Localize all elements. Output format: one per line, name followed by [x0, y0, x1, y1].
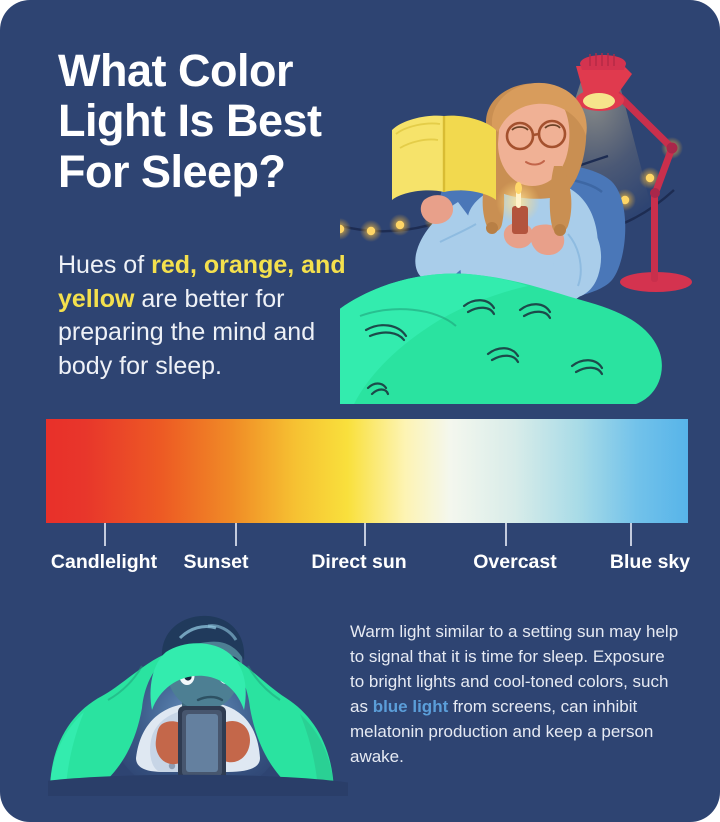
- gradient-fill: [46, 419, 688, 523]
- page-title: What Color Light Is Best For Sleep?: [58, 46, 388, 197]
- scale-label-candlelight: Candlelight: [51, 551, 157, 574]
- woman-reading-in-bed-illustration: [340, 30, 710, 405]
- blanket: [340, 274, 662, 404]
- subtitle-part-1: Hues of: [58, 251, 151, 279]
- scale-tick: [104, 523, 106, 546]
- scale-label-blue-sky: Blue sky: [610, 551, 690, 574]
- subtitle-text: Hues of red, orange, and yellow are bett…: [58, 249, 358, 383]
- body-paragraph: Warm light similar to a setting sun may …: [350, 620, 680, 770]
- scale-tick: [505, 523, 507, 546]
- book: [392, 116, 496, 200]
- infographic-card: What Color Light Is Best For Sleep? Hues…: [0, 0, 720, 822]
- scale-tick: [235, 523, 237, 546]
- scale-label-sunset: Sunset: [183, 551, 248, 574]
- scale-tick: [630, 523, 632, 546]
- scale-ticks: [46, 523, 688, 547]
- scale-label-direct-sun: Direct sun: [311, 551, 406, 574]
- smartphone: [178, 706, 226, 780]
- body-highlight-blue-light: blue light: [373, 697, 449, 716]
- scale-labels: Candlelight Sunset Direct sun Overcast B…: [0, 551, 720, 581]
- scale-label-overcast: Overcast: [473, 551, 556, 574]
- subtitle-highlight-1: red, orange,: [151, 251, 294, 279]
- person-under-blanket-with-phone-illustration: [48, 596, 348, 796]
- color-temperature-gradient-bar: [46, 419, 688, 523]
- scale-tick: [364, 523, 366, 546]
